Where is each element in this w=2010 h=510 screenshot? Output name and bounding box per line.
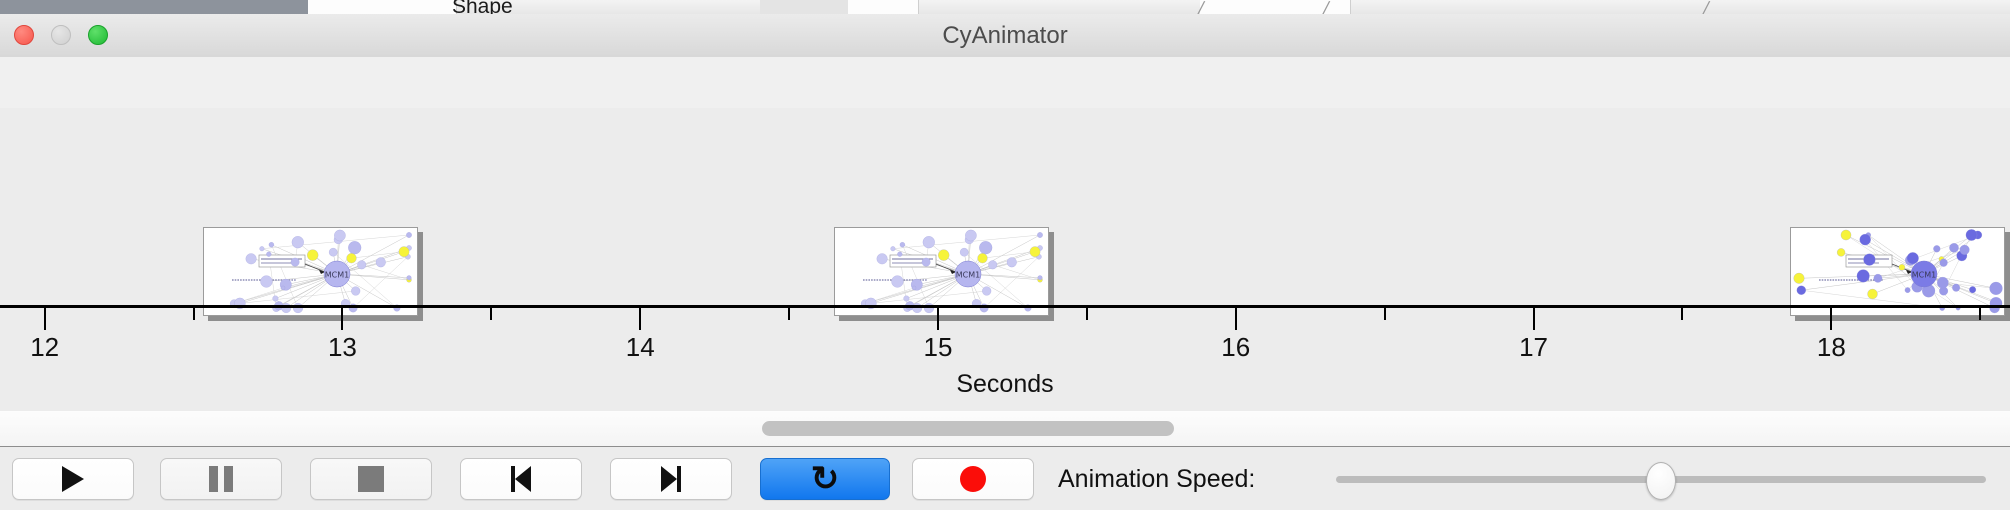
bg-slash-icon: ╱	[1700, 1, 1712, 13]
skip-back-icon	[511, 466, 531, 492]
frame-network-preview: MCM1	[203, 227, 418, 316]
stop-icon	[358, 466, 384, 492]
axis-tick-label: 17	[1519, 332, 1548, 363]
svg-text:MCM1: MCM1	[1912, 271, 1936, 280]
animation-speed-slider[interactable]	[1336, 458, 1986, 500]
pause-button[interactable]	[160, 458, 282, 500]
axis-tick-minor	[1979, 308, 1981, 320]
background-window-strip: Shape ╱ ╱ ╱	[0, 0, 2010, 15]
frame-toolbar: Clear All Frames	[0, 57, 2010, 109]
timeline-panel[interactable]: MCM1 MCM1 MCM1 12131415161718 Seconds	[0, 108, 2010, 412]
bg-chip	[308, 0, 457, 14]
background-window-label: Shape	[452, 0, 513, 15]
bg-chip	[0, 0, 49, 14]
axis-tick-minor	[788, 308, 790, 320]
timeline-scrollbar[interactable]	[0, 411, 2010, 447]
frame-network-preview: MCM1	[834, 227, 1049, 316]
axis-tick-label: 18	[1817, 332, 1846, 363]
transport-bar: ↻ Animation Speed:	[0, 447, 2010, 510]
axis-tick-label: 16	[1221, 332, 1250, 363]
svg-text:MCM1: MCM1	[956, 271, 980, 280]
pause-icon	[209, 466, 233, 492]
play-icon	[62, 466, 84, 492]
stop-button[interactable]	[310, 458, 432, 500]
scrollbar-thumb[interactable]	[762, 421, 1174, 436]
skip-to-end-button[interactable]	[610, 458, 732, 500]
axis-tick-minor	[1086, 308, 1088, 320]
svg-text:MCM1: MCM1	[324, 271, 348, 280]
animation-speed-label: Animation Speed:	[1058, 458, 1255, 500]
bg-slash-icon: ╱	[1195, 1, 1207, 13]
timeline-axis-line	[0, 305, 2010, 308]
slider-knob[interactable]	[1646, 462, 1676, 500]
window-title: CyAnimator	[0, 14, 2010, 57]
axis-tick-major	[341, 308, 343, 330]
axis-tick-major	[1235, 308, 1237, 330]
axis-tick-label: 14	[626, 332, 655, 363]
frame-network-preview: MCM1	[1790, 227, 2005, 316]
skip-to-start-button[interactable]	[460, 458, 582, 500]
record-icon	[960, 466, 986, 492]
title-bar[interactable]: CyAnimator	[0, 14, 2010, 58]
axis-tick-minor	[490, 308, 492, 320]
loop-icon: ↻	[811, 462, 840, 496]
axis-tick-minor	[193, 308, 195, 320]
axis-tick-major	[1533, 308, 1535, 330]
axis-tick-minor	[1384, 308, 1386, 320]
scrollbar-track[interactable]	[0, 411, 2010, 445]
axis-tick-major	[1830, 308, 1832, 330]
axis-tick-minor	[1681, 308, 1683, 320]
skip-forward-icon	[661, 466, 681, 492]
axis-tick-label: 13	[328, 332, 357, 363]
record-button[interactable]	[912, 458, 1034, 500]
axis-tick-major	[639, 308, 641, 330]
axis-tick-major	[937, 308, 939, 330]
loop-button[interactable]: ↻	[760, 458, 890, 500]
play-button[interactable]	[12, 458, 134, 500]
axis-tick-label: 15	[924, 332, 953, 363]
axis-tick-major	[44, 308, 46, 330]
cyanimator-window: Shape ╱ ╱ ╱ CyAnimator	[0, 0, 2010, 510]
bg-chip	[48, 0, 309, 14]
axis-title: Seconds	[0, 370, 2010, 399]
axis-tick-label: 12	[30, 332, 59, 363]
bg-slash-icon: ╱	[1320, 1, 1332, 13]
bg-chip	[760, 0, 849, 14]
bg-chip	[848, 0, 919, 14]
